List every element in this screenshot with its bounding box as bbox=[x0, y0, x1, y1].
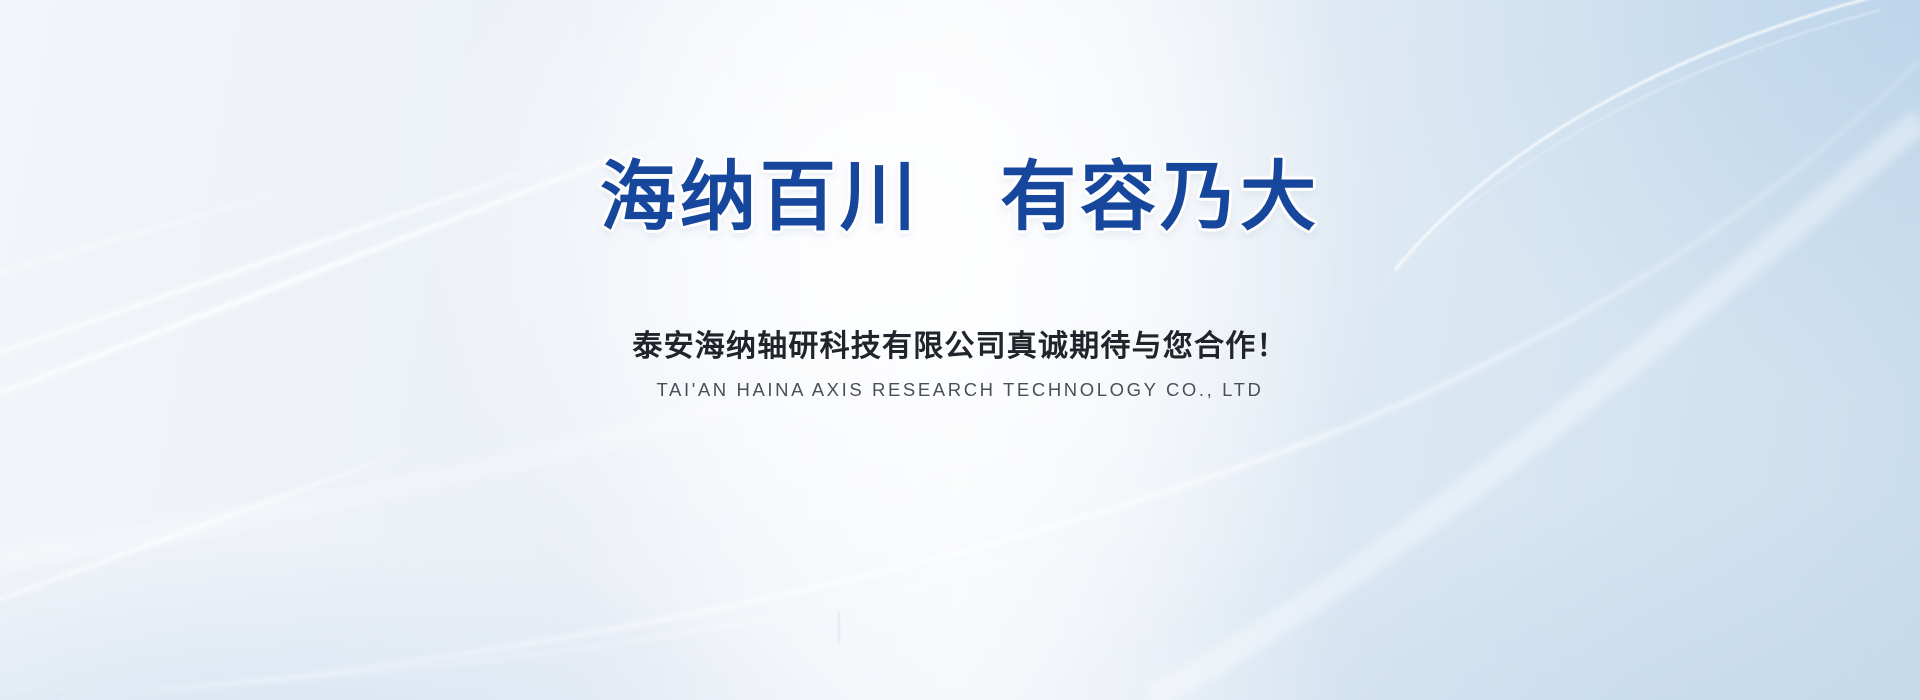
headline-part-2: 有容乃大 bbox=[1000, 155, 1320, 240]
banner-subtitle-chinese: 泰安海纳轴研科技有限公司真诚期待与您合作！ bbox=[632, 321, 1287, 365]
banner-content: 海纳百川 有容乃大 泰安海纳轴研科技有限公司真诚期待与您合作！ TAI'AN H… bbox=[0, 0, 1920, 700]
banner-headline: 海纳百川 有容乃大 bbox=[600, 158, 1320, 239]
banner-subtitle-english: TAI'AN HAINA AXIS RESEARCH TECHNOLOGY CO… bbox=[657, 379, 1264, 401]
headline-part-1: 海纳百川 bbox=[600, 155, 920, 240]
hero-banner: 海纳百川 有容乃大 泰安海纳轴研科技有限公司真诚期待与您合作！ TAI'AN H… bbox=[0, 0, 1920, 700]
